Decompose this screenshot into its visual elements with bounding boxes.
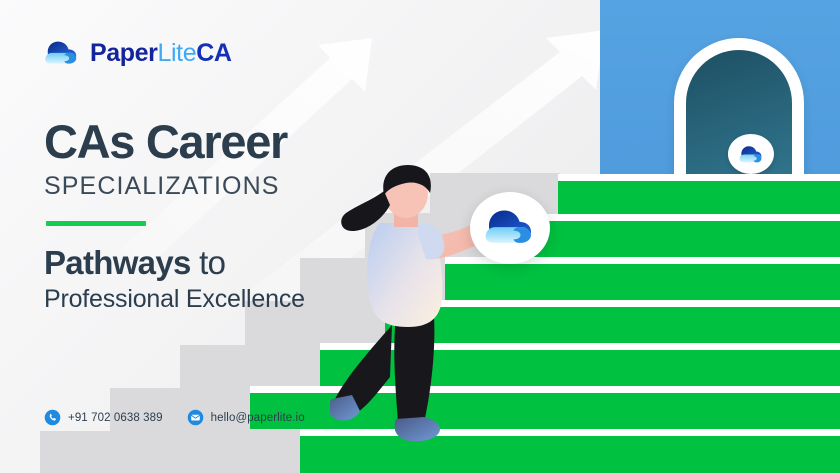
envelope-icon xyxy=(187,409,204,426)
cloud-wave-logo-icon xyxy=(728,134,774,174)
contact-phone-text: +91 702 0638 389 xyxy=(68,412,163,424)
headline-tertiary: Pathways to xyxy=(44,245,404,281)
brand-word-ca: CA xyxy=(196,39,231,67)
contact-email-text: hello@paperlite.io xyxy=(211,412,305,424)
brand-word-lite: Lite xyxy=(157,39,196,67)
brand-word-paper: Paper xyxy=(90,39,157,67)
marketing-banner: PaperLiteCA CAs Career SPECIALIZATIONS P… xyxy=(0,0,840,473)
headline-pathways: Pathways xyxy=(44,244,191,281)
contact-email[interactable]: hello@paperlite.io xyxy=(187,409,305,426)
hero-cloud-wave-logo-icon xyxy=(470,192,550,264)
headline-to: to xyxy=(199,244,225,281)
headline-primary: CAs Career xyxy=(44,118,404,166)
stair-step xyxy=(558,174,840,214)
brand-wordmark: PaperLiteCA xyxy=(90,41,232,66)
headline-subtitle: SPECIALIZATIONS xyxy=(44,172,404,201)
stair-step xyxy=(505,214,840,257)
brand-logo[interactable]: PaperLiteCA xyxy=(43,38,232,69)
green-divider-rule xyxy=(46,221,146,226)
cloud-wave-logo-icon xyxy=(43,38,81,69)
phone-icon xyxy=(44,409,61,426)
contact-bar: +91 702 0638 389 hello@paperlite.io xyxy=(44,409,305,426)
headline-block: CAs Career SPECIALIZATIONS Pathways to P… xyxy=(44,118,404,314)
shoe-front xyxy=(395,417,440,441)
contact-phone[interactable]: +91 702 0638 389 xyxy=(44,409,163,426)
headline-quaternary: Professional Excellence xyxy=(44,285,404,314)
